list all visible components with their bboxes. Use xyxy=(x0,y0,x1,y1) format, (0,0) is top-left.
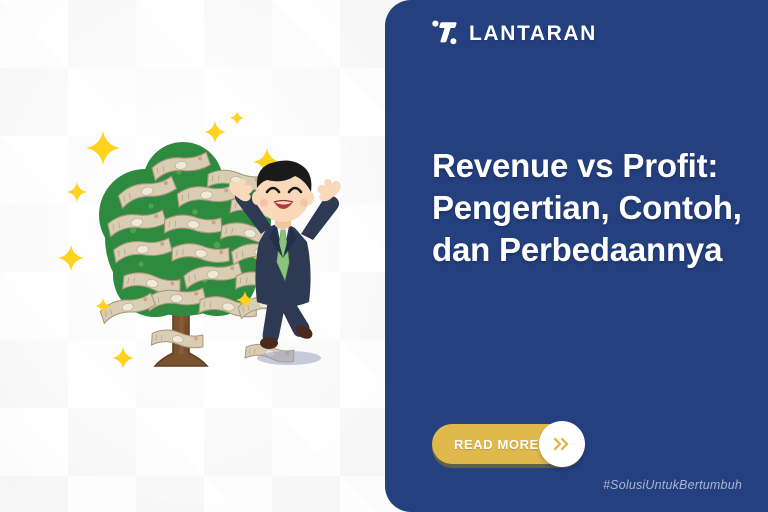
hashtag-tagline: #SolusiUntukBertumbuh xyxy=(603,478,742,492)
brand-name: LANTARAN xyxy=(469,23,597,44)
read-more-button[interactable]: READ MORE xyxy=(432,424,583,464)
content-panel: LANTARAN Revenue vs Profit: Pengertian, … xyxy=(385,0,768,512)
page-title: Revenue vs Profit: Pengertian, Contoh, d… xyxy=(432,145,752,272)
brand-logo[interactable]: LANTARAN xyxy=(432,20,597,46)
double-chevron-right-icon xyxy=(552,436,572,452)
thumbnail-canvas: LANTARAN Revenue vs Profit: Pengertian, … xyxy=(0,0,768,512)
lantaran-t-mark-icon xyxy=(432,20,458,46)
read-more-icon-circle xyxy=(539,421,585,467)
read-more-label: READ MORE xyxy=(454,438,539,451)
money-tree-illustration xyxy=(55,110,345,380)
